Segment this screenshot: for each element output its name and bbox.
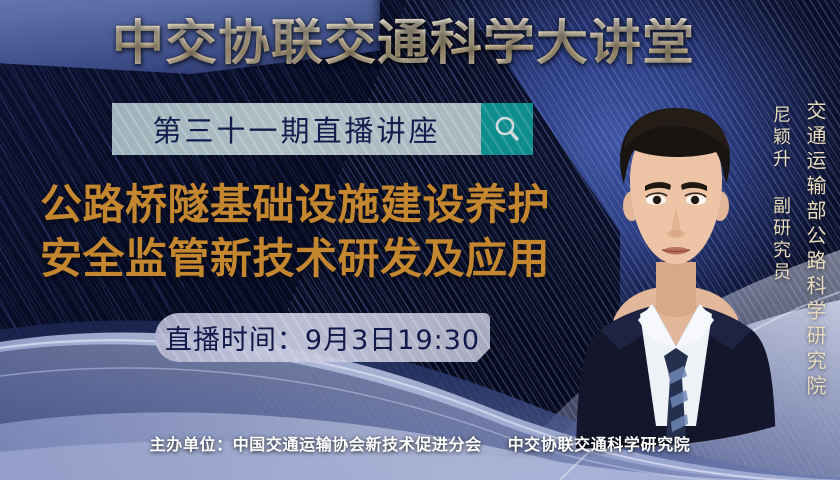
footer-organizer-2: 中交协联交通科学研究院 [508,435,691,454]
search-icon[interactable] [481,103,533,155]
live-lecture-poster: 中交协联交通科学大讲堂 中交协联交通科学大讲堂 第三十一期直播讲座 公路桥隧基础… [0,0,840,480]
speaker-name-title: 尼颖升 副研究员 [767,105,793,284]
footer-organizer-1: 中国交通运输协会新技术促进分会 [233,435,482,454]
episode-label: 第三十一期直播讲座 [152,108,440,150]
lecture-topic-line-1: 公路桥隧基础设施建设养护 [40,178,610,232]
footer-organizers: 主办单位：中国交通运输协会新技术促进分会中交协联交通科学研究院 [0,431,840,455]
lecture-topic: 公路桥隧基础设施建设养护 安全监管新技术研发及应用 [40,178,610,286]
episode-banner-bar: 第三十一期直播讲座 [112,103,481,155]
search-icon-glyph [492,114,522,144]
lecture-topic-line-2: 安全监管新技术研发及应用 [40,232,610,286]
broadcast-time-label: 直播时间：9月3日19:30 [165,318,480,357]
broadcast-time-pill: 直播时间：9月3日19:30 [155,313,490,362]
speaker-institution: 交通运输部公路科学研究院 [801,100,830,400]
poster-title: 中交协联交通科学大讲堂 [112,18,748,67]
episode-banner: 第三十一期直播讲座 [112,103,533,155]
footer-organizer-label: 主办单位： [150,435,233,454]
